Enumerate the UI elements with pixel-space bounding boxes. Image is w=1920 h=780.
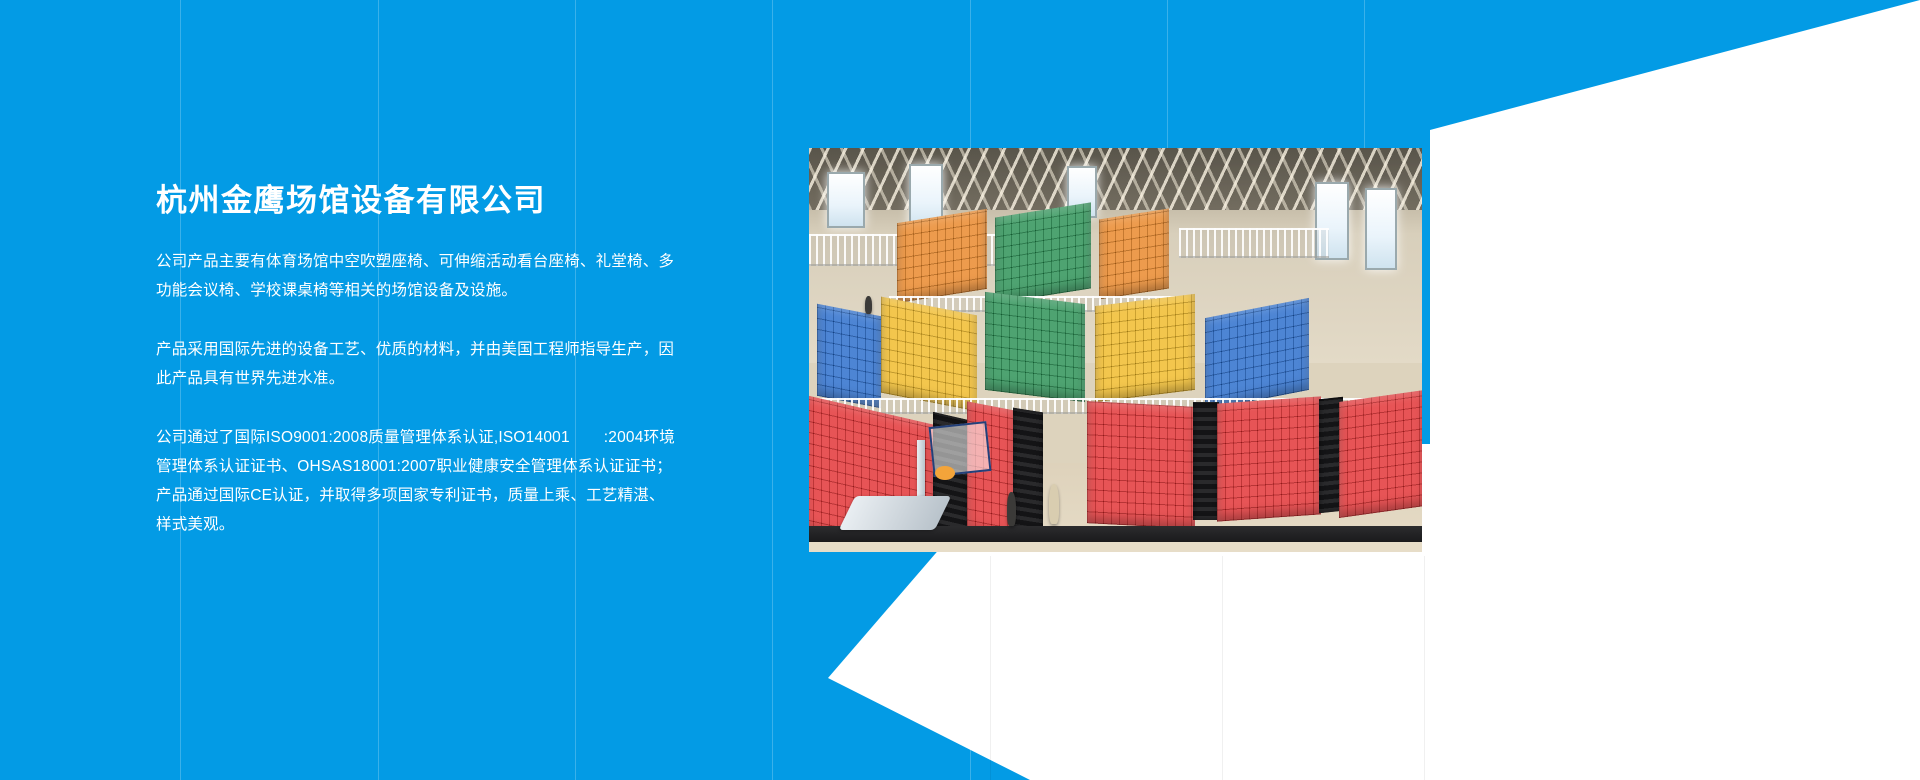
intro-text-column: 杭州金鹰场馆设备有限公司 公司产品主要有体育场馆中空吹塑座椅、可伸缩活动看台座椅… [156,182,676,539]
photo-bleacher-yellow [1095,294,1195,402]
photo-bleacher-riser [1193,402,1219,520]
photo-bleacher-blue [1205,298,1309,410]
photo-bleacher-red [1339,390,1422,518]
photo-bleacher-yellow [881,297,977,412]
photo-balcony-railing [1179,228,1329,258]
photo-person [865,296,872,314]
photo-bleacher-orange [897,209,987,303]
photo-bleacher-green [985,292,1085,402]
photo-bleacher-orange [1099,208,1169,299]
photo-window [827,172,865,228]
paragraph-products: 公司产品主要有体育场馆中空吹塑座椅、可伸缩活动看台座椅、礼堂椅、多功能会议椅、学… [156,247,676,305]
photo-court-floor [809,542,1422,552]
company-name-heading: 杭州金鹰场馆设备有限公司 [156,182,676,219]
paragraph-certifications: 公司通过了国际ISO9001:2008质量管理体系认证,ISO14001:200… [156,423,676,539]
company-intro-banner: 杭州金鹰场馆设备有限公司 公司产品主要有体育场馆中空吹塑座椅、可伸缩活动看台座椅… [0,0,1920,780]
gymnasium-photo [809,148,1422,552]
gymnasium-photo-image [809,148,1422,552]
paragraph-technology: 产品采用国际先进的设备工艺、优质的材料，并由美国工程师指导生产，因此产品具有世界… [156,335,676,393]
photo-bleacher-blue [817,304,881,408]
photo-person [1049,484,1059,524]
photo-bleacher-red [1087,401,1195,529]
photo-basketball-rim [935,466,955,480]
photo-bleacher-green [995,202,1091,303]
photo-bleacher-riser [1013,408,1043,533]
certification-text-part-one: 公司通过了国际ISO9001:2008质量管理体系认证,ISO14001 [156,429,570,446]
photo-hoop-base [839,496,952,530]
photo-person [1007,492,1016,526]
photo-bleacher-red [1217,396,1321,521]
photo-window [1365,188,1397,270]
photo-caption-cells [809,556,1422,780]
